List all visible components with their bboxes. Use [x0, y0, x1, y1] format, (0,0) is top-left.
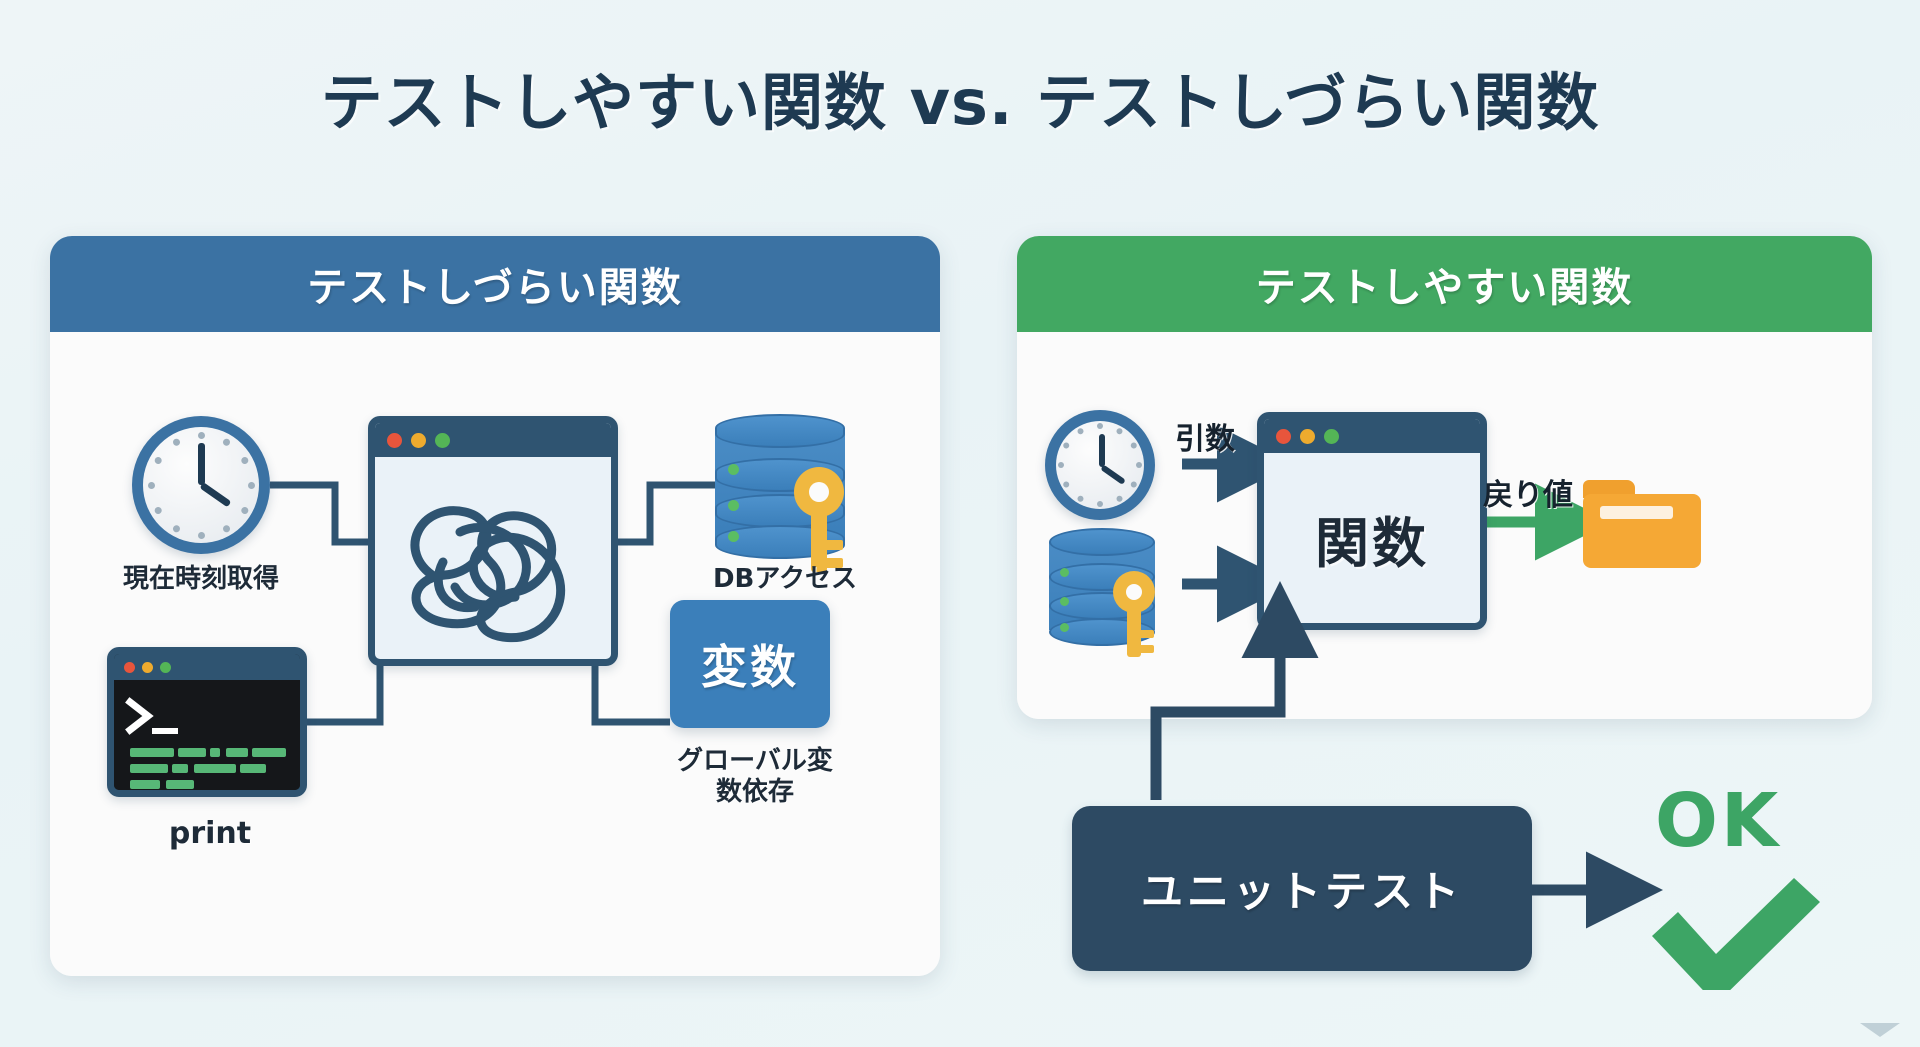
folder-icon: [1583, 480, 1701, 568]
database-key-icon: [1049, 528, 1155, 648]
clock-icon: [132, 416, 270, 554]
terminal-close-dot: [124, 662, 135, 673]
function-window-icon: 関数: [1257, 412, 1487, 630]
label-argument: 引数: [1175, 414, 1235, 458]
label-return-value-text: 戻り値: [1483, 478, 1573, 513]
window-close-dot: [387, 433, 402, 448]
window-close-dot: [1276, 429, 1291, 444]
label-argument-text: 引数: [1175, 422, 1235, 457]
window-minimize-dot: [1300, 429, 1315, 444]
function-box-label-wrap: 関数: [1264, 453, 1480, 623]
panel-hard-to-test: テストしづらい関数: [50, 236, 940, 976]
panel-hard-to-test-body: 現在時刻取得: [50, 332, 940, 976]
ok-label: OK: [1655, 778, 1781, 864]
caption-print: print: [90, 816, 330, 851]
panel-easy-to-test: テストしやすい関数: [1017, 236, 1872, 719]
tangle-scribble-icon: [375, 457, 611, 659]
unit-test-box: ユニットテスト: [1072, 806, 1532, 971]
terminal-screen: [114, 680, 300, 797]
key-icon: [1109, 570, 1167, 658]
panel-hard-to-test-header-label: テストしづらい関数: [307, 255, 683, 313]
terminal-maximize-dot: [160, 662, 171, 673]
folder-lip: [1600, 506, 1673, 519]
caption-current-time-label: 現在時刻取得: [123, 564, 279, 594]
caption-global-variable: グローバル変 数依存: [630, 746, 880, 807]
caption-db-access: DBアクセス: [640, 564, 930, 595]
panel-easy-to-test-header: テストしやすい関数: [1017, 236, 1872, 332]
variable-box-icon: 変数: [670, 600, 830, 728]
clock-face: [143, 427, 259, 543]
caption-db-access-label: DBアクセス: [713, 564, 857, 594]
window-minimize-dot: [411, 433, 426, 448]
corner-watermark-icon: [1858, 1019, 1902, 1039]
panel-easy-to-test-body: 引数 関数 戻り値: [1017, 332, 1872, 719]
terminal-minimize-dot: [142, 662, 153, 673]
window-titlebar: [375, 423, 611, 457]
unit-test-label: ユニットテスト: [1141, 858, 1463, 919]
label-return-value: 戻り値: [1483, 470, 1573, 514]
diagram-canvas: テストしやすい関数 vs. テストしづらい関数 テストしづらい関数: [0, 0, 1920, 1047]
window-maximize-dot: [1324, 429, 1339, 444]
variable-box-label: 変数: [701, 631, 799, 697]
panel-easy-to-test-header-label: テストしやすい関数: [1256, 255, 1634, 313]
key-icon: [789, 466, 859, 574]
check-mark-icon: [1638, 870, 1828, 990]
clock-face: [1056, 421, 1144, 509]
terminal-icon: [107, 647, 307, 797]
page-title: テストしやすい関数 vs. テストしづらい関数: [0, 52, 1920, 142]
ok-label-text: OK: [1655, 778, 1781, 864]
function-box-label: 関数: [1315, 499, 1429, 578]
clock-icon: [1045, 410, 1155, 520]
caption-global-variable-line1: グローバル変: [630, 746, 880, 777]
terminal-titlebar: [114, 654, 300, 680]
caption-current-time: 現在時刻取得: [60, 564, 342, 595]
panel-hard-to-test-header: テストしづらい関数: [50, 236, 940, 332]
page-title-text: テストしやすい関数 vs. テストしづらい関数: [321, 66, 1600, 139]
function-window-titlebar: [1264, 419, 1480, 453]
tangled-window-icon: [368, 416, 618, 666]
database-key-icon: [715, 414, 845, 562]
caption-print-label: print: [169, 816, 251, 851]
window-maximize-dot: [435, 433, 450, 448]
caption-global-variable-line2: 数依存: [630, 777, 880, 808]
